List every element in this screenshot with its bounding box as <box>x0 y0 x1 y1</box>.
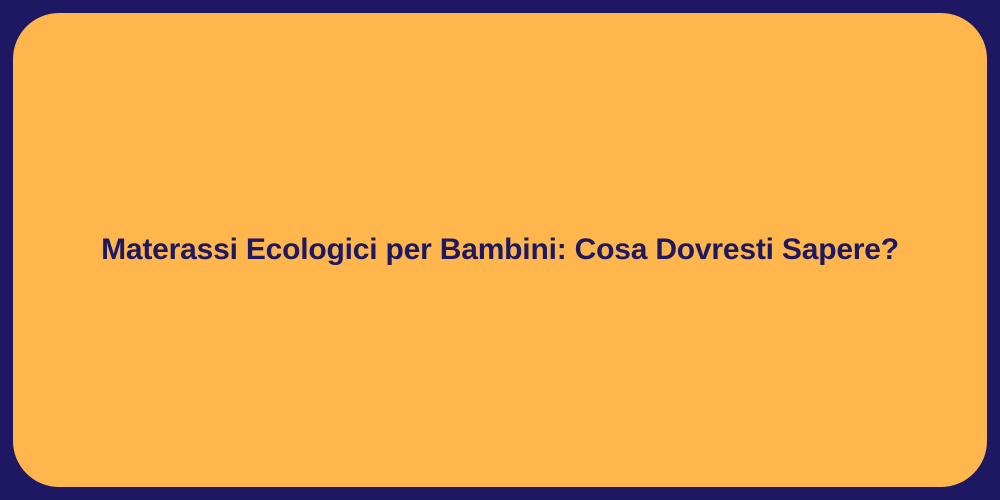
title-card-content: Materassi Ecologici per Bambini: Cosa Do… <box>13 232 987 268</box>
title-card: Materassi Ecologici per Bambini: Cosa Do… <box>13 13 987 487</box>
page-frame: Materassi Ecologici per Bambini: Cosa Do… <box>0 0 1000 500</box>
page-title: Materassi Ecologici per Bambini: Cosa Do… <box>53 232 947 268</box>
